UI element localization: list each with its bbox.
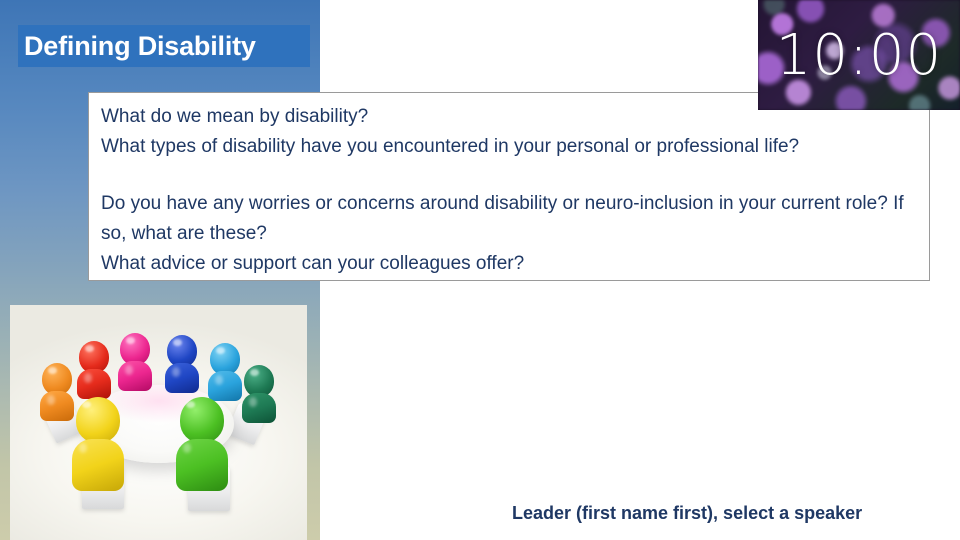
figure-head xyxy=(180,397,224,443)
question-text-box-content: What do we mean by disability? What type… xyxy=(101,102,921,279)
figure-yellow xyxy=(72,397,124,491)
leader-instruction-note: Leader (first name first), select a spea… xyxy=(512,503,862,524)
countdown-timer-widget[interactable]: 10:00 xyxy=(758,0,960,110)
figure-body xyxy=(118,361,152,391)
figure-head xyxy=(76,397,120,443)
figure-body xyxy=(165,363,199,393)
figure-body xyxy=(176,439,228,491)
meeting-illustration xyxy=(10,305,307,540)
figure-body xyxy=(72,439,124,491)
figure-red xyxy=(77,341,111,399)
page-title: Defining Disability xyxy=(24,26,314,66)
figure-green xyxy=(176,397,228,491)
question-line-4: What advice or support can your colleagu… xyxy=(101,249,921,279)
figure-dark-green xyxy=(242,365,276,423)
figure-body xyxy=(77,369,111,399)
question-text-box: What do we mean by disability? What type… xyxy=(88,92,930,281)
figure-body xyxy=(40,391,74,421)
figure-orange xyxy=(40,363,74,421)
figure-pink xyxy=(118,333,152,391)
question-line-3: Do you have any worries or concerns arou… xyxy=(101,189,921,249)
slide-canvas: Defining Disability What do we mean by d… xyxy=(0,0,960,540)
figure-light-blue xyxy=(208,343,242,401)
question-paragraph-gap xyxy=(101,162,921,189)
figure-body xyxy=(242,393,276,423)
timer-value: 10:00 xyxy=(758,0,960,110)
figure-blue xyxy=(165,335,199,393)
question-line-2: What types of disability have you encoun… xyxy=(101,132,921,162)
